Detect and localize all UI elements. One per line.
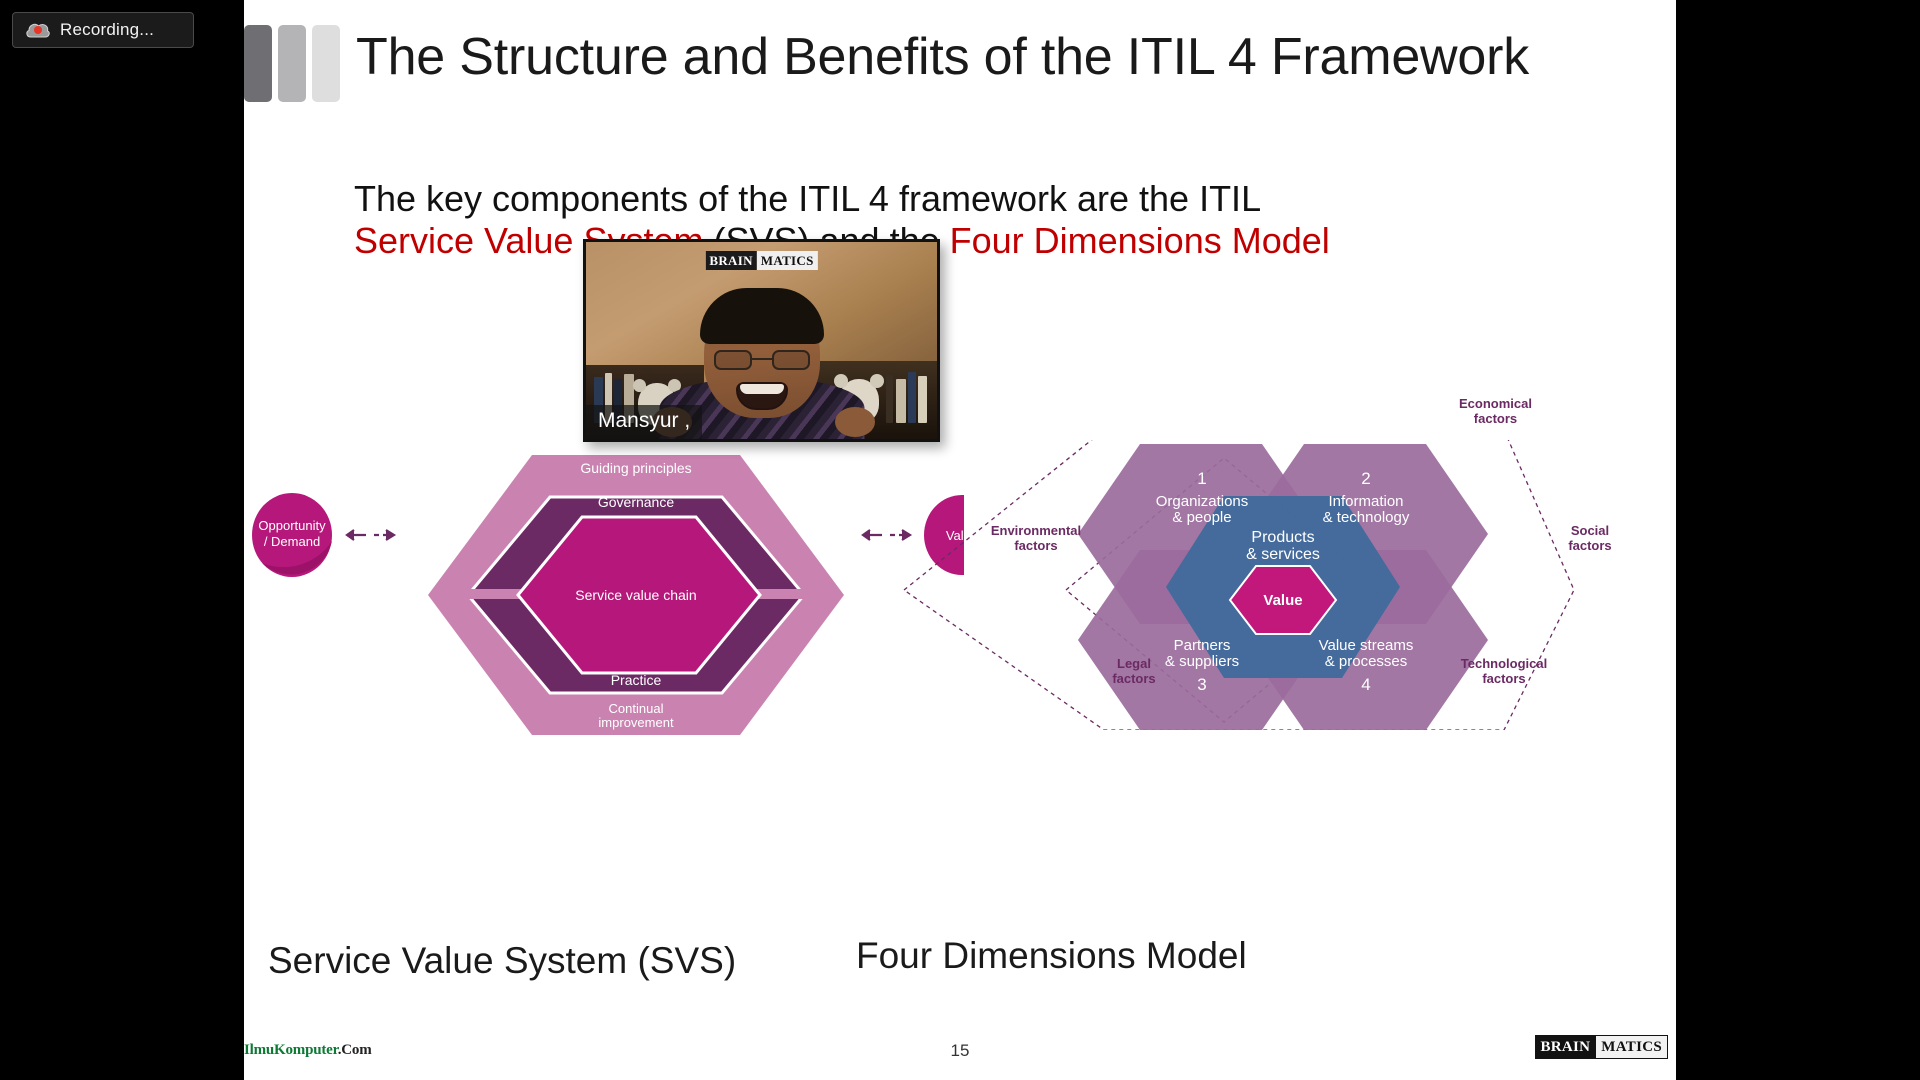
brainmatics-logo: BRAIN MATICS — [1535, 1035, 1668, 1059]
svs-continual-line2-label: improvement — [598, 715, 674, 730]
cloud-record-icon — [25, 20, 51, 40]
recording-label: Recording... — [60, 20, 154, 40]
svs-opportunity-line2-label: / Demand — [264, 534, 320, 549]
body-line-1: The key components of the ITIL 4 framewo… — [354, 178, 1554, 220]
fdm-factor-economical-l2: factors — [1474, 411, 1517, 426]
title-bar-1 — [244, 25, 272, 102]
svs-opportunity-line1-label: Opportunity — [258, 518, 326, 533]
fdm-factor-economical: Economical factors — [1459, 396, 1532, 426]
fdm-dim4-line2: & processes — [1325, 653, 1408, 670]
fdm-factor-social-line1: Social — [1571, 523, 1609, 538]
person-hand-right — [835, 407, 875, 437]
body-line-2: Service Value System (SVS) and the Four … — [354, 220, 1554, 262]
fdm-factor-legal-line2: factors — [1112, 671, 1155, 686]
fdm-value-label: Value — [1263, 592, 1302, 609]
svs-left-arrow — [347, 530, 394, 540]
brainmatics-watermark-part2: MATICS — [757, 251, 818, 270]
svs-caption: Service Value System (SVS) — [268, 940, 736, 982]
fdm-dim1-line2: & people — [1172, 509, 1231, 526]
fdm-dim2-line1: Information — [1328, 493, 1403, 510]
fdm-factor-technological-line1: Technological — [1461, 656, 1547, 671]
svs-service-value-chain-label: Service value chain — [575, 587, 696, 603]
person-teeth — [740, 384, 784, 394]
fdm-caption: Four Dimensions Model — [856, 935, 1247, 977]
title-decoration-bars — [244, 25, 340, 102]
brainmatics-watermark: BRAIN MATICS — [705, 251, 817, 270]
participant-name-label: Mansyur , — [586, 405, 702, 439]
fdm-factor-environmental-line2: factors — [1014, 538, 1057, 553]
fdm-factor-environmental-line1: Environmental — [991, 523, 1081, 538]
person-hair — [700, 288, 824, 344]
fdm-dim3-line2: & suppliers — [1165, 653, 1239, 670]
book-5 — [918, 376, 927, 423]
brainmatics-logo-part2: MATICS — [1595, 1035, 1668, 1059]
fdm-factor-social-line2: factors — [1568, 538, 1611, 553]
book-8 — [886, 375, 893, 423]
fdm-dim2-number: 2 — [1361, 469, 1370, 488]
fdm-dim1-number: 1 — [1197, 469, 1206, 488]
book-7 — [896, 379, 906, 423]
fdm-factor-technological-line2: factors — [1482, 671, 1525, 686]
recording-badge[interactable]: Recording... — [12, 12, 194, 48]
fdm-dim4-line1: Value streams — [1319, 637, 1414, 654]
svs-practice-label: Practice — [611, 672, 662, 688]
record-dot — [34, 26, 42, 34]
slide-body-text: The key components of the ITIL 4 framewo… — [354, 178, 1554, 263]
fdm-dim1-line1: Organizations — [1156, 493, 1249, 510]
book-6 — [908, 372, 916, 423]
screen: Recording... The Structure and Benefits … — [0, 0, 1920, 1080]
svs-governance-label: Governance — [598, 494, 674, 510]
glasses-icon — [714, 350, 810, 370]
four-dimensions-diagram: 1 Organizations & people 2 Information &… — [804, 440, 1674, 730]
webcam-overlay[interactable]: BRAIN MATICS Mansyur , — [583, 239, 940, 442]
brainmatics-logo-part1: BRAIN — [1535, 1035, 1595, 1059]
fdm-center-line1: Products — [1251, 529, 1314, 546]
slide-title: The Structure and Benefits of the ITIL 4… — [356, 26, 1666, 88]
body-fdm-phrase: Four Dimensions Model — [950, 220, 1330, 261]
fdm-factor-economical-l1: Economical — [1459, 396, 1532, 411]
glasses-lens-left — [714, 350, 752, 370]
slide-canvas: The Structure and Benefits of the ITIL 4… — [244, 0, 1676, 1080]
fdm-center-line2: & services — [1246, 546, 1320, 563]
title-bar-2 — [278, 25, 306, 102]
glasses-bridge — [752, 358, 772, 360]
fdm-dim3-line1: Partners — [1174, 637, 1231, 654]
fdm-dim4-number: 4 — [1361, 675, 1370, 694]
fdm-dim2-line2: & technology — [1323, 509, 1410, 526]
svs-continual-line1-label: Continual — [609, 701, 664, 716]
title-bar-3 — [312, 25, 340, 102]
brainmatics-watermark-part1: BRAIN — [705, 251, 756, 270]
svs-guiding-principles-label: Guiding principles — [580, 460, 691, 476]
fdm-dim3-number: 3 — [1197, 675, 1206, 694]
fdm-factor-legal-line1: Legal — [1117, 656, 1151, 671]
slide-page-number: 15 — [244, 1041, 1676, 1061]
glasses-lens-right — [772, 350, 810, 370]
